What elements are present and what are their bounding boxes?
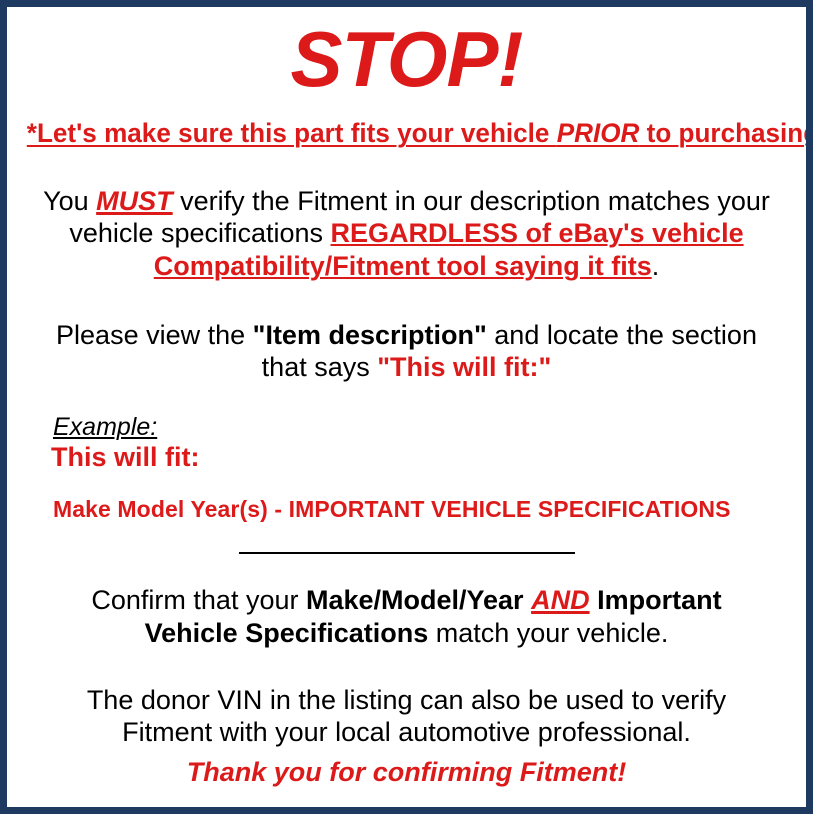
confirm-text-part2: match your vehicle. [428, 618, 668, 648]
confirm-text-part1: Confirm that your [91, 585, 306, 615]
must-text-part1: You [43, 186, 96, 216]
notice-content: STOP! *Let's make sure this part fits yo… [7, 7, 806, 807]
subtitle-emphasis-prior: PRIOR [557, 118, 640, 148]
example-label-row: Example: [53, 414, 792, 442]
section-divider [239, 552, 575, 554]
paragraph-must-verify: You MUST verify the Fitment in our descr… [21, 185, 792, 283]
paragraph-confirm: Confirm that your Make/Model/Year AND Im… [21, 584, 792, 649]
divider-row [21, 544, 792, 562]
must-text-part3: . [652, 251, 660, 281]
subtitle-text-after: to purchasing* [639, 118, 813, 148]
emphasis-make-model-year: Make/Model/Year [306, 585, 524, 615]
example-fit-heading: This will fit: [51, 443, 792, 473]
fitment-notice-card: STOP! *Let's make sure this part fits yo… [0, 0, 813, 814]
emphasis-item-description: "Item description" [253, 320, 487, 350]
paragraph-item-description: Please view the "Item description" and l… [21, 319, 792, 384]
view-text-part1: Please view the [56, 320, 253, 350]
thank-you-line: Thank you for confirming Fitment! [21, 757, 792, 788]
subtitle-line: *Let's make sure this part fits your veh… [27, 119, 786, 148]
confirm-space-1 [524, 585, 532, 615]
confirm-space-2 [590, 585, 598, 615]
emphasis-must: MUST [96, 186, 173, 216]
emphasis-this-will-fit: "This will fit:" [377, 352, 551, 382]
paragraph-donor-vin: The donor VIN in the listing can also be… [21, 684, 792, 749]
emphasis-and: AND [531, 585, 590, 615]
subtitle-text-before: *Let's make sure this part fits your veh… [27, 118, 557, 148]
example-block: Example: This will fit: Make Model Year(… [21, 414, 792, 522]
example-spec-line: Make Model Year(s) - IMPORTANT VEHICLE S… [53, 497, 792, 522]
page-title: STOP! [21, 7, 792, 97]
example-label: Example: [53, 414, 157, 442]
